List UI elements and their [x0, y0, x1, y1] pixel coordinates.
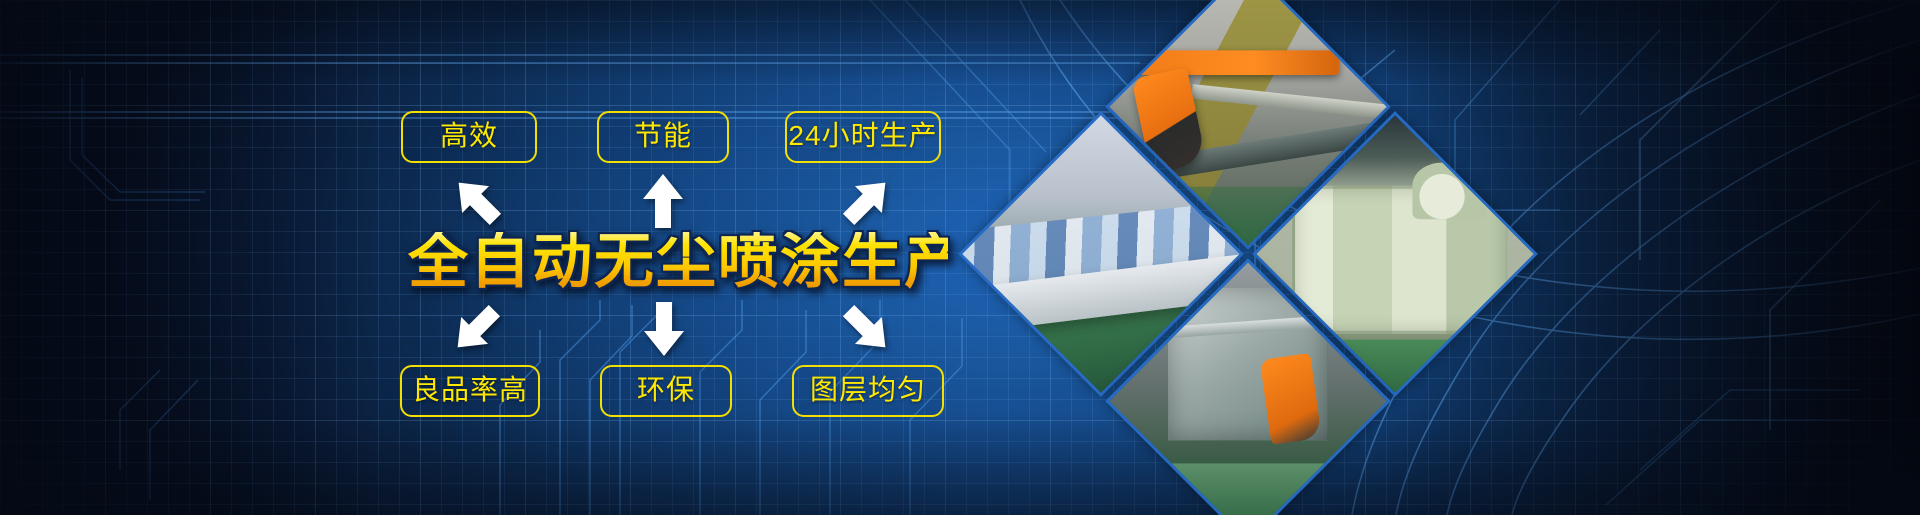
arrow-down-left-icon [447, 300, 505, 358]
arrow-down-right-icon [838, 300, 896, 358]
feature-pill-energy-saving[interactable]: 节能 [597, 111, 729, 163]
feature-pill-efficient[interactable]: 高效 [401, 111, 537, 163]
feature-pill-24h-production[interactable]: 24小时生产 [785, 111, 941, 163]
feature-pill-high-yield[interactable]: 良品率高 [400, 365, 540, 417]
arrow-up-icon [637, 172, 689, 230]
banner-headline: 全自动无尘喷涂生产线 [408, 232, 948, 292]
arrow-down-icon [638, 300, 690, 358]
arrow-up-right-icon [838, 172, 896, 230]
arrow-up-left-icon [448, 172, 506, 230]
promotional-banner: 高效 节能 24小时生产 良品率高 环保 图层均匀 全自动无尘喷涂生产线 [0, 0, 1920, 515]
feature-pill-uniform-coating[interactable]: 图层均匀 [792, 365, 944, 417]
feature-pill-eco-friendly[interactable]: 环保 [600, 365, 732, 417]
